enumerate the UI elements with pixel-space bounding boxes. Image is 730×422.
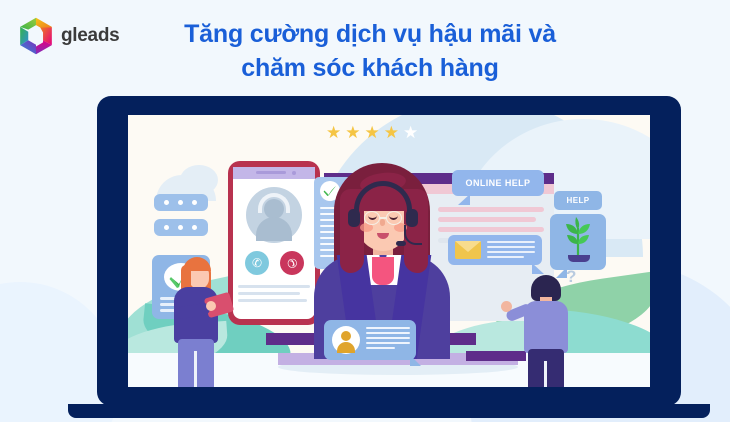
- gleads-hexagon-logo: [18, 17, 54, 55]
- headset-microphone-icon: [396, 241, 406, 246]
- woman-leg-gap: [194, 351, 197, 387]
- phone-speaker: [256, 171, 286, 174]
- woman-hand: [206, 301, 216, 311]
- phone-camera-dot: [292, 171, 296, 175]
- plant-pot: [568, 255, 590, 262]
- star-filled: ★: [345, 124, 360, 141]
- rating-stars: ★ ★ ★ ★ ★: [326, 124, 436, 141]
- laptop-screen: ★ ★ ★ ★ ★ ✆ ✆: [128, 115, 650, 387]
- agent-shirt: [372, 257, 394, 285]
- desk-bar-right: [466, 351, 526, 361]
- help-bubble[interactable]: HELP: [554, 191, 602, 210]
- help-label: HELP: [554, 191, 602, 210]
- decline-call-button[interactable]: ✆: [280, 251, 304, 275]
- star-filled: ★: [326, 124, 341, 141]
- agent-nose: [380, 219, 385, 226]
- man-leg-gap: [544, 361, 547, 387]
- caller-avatar-head: [264, 199, 284, 219]
- question-mark-icon: ?: [566, 267, 576, 287]
- envelope-flap-icon: [455, 241, 481, 252]
- man-hand: [501, 301, 512, 312]
- avatar-body: [337, 342, 355, 353]
- phone-text-lines: [238, 285, 310, 306]
- page-title-line-2: chăm sóc khách hàng: [130, 52, 610, 86]
- brand-logo[interactable]: gleads: [18, 17, 119, 55]
- online-help-bubble[interactable]: ONLINE HELP: [452, 170, 544, 196]
- avatar-head: [341, 331, 351, 341]
- laptop-base: [68, 404, 710, 418]
- typing-indicator-bubble: [154, 219, 208, 236]
- star-filled: ★: [365, 124, 380, 141]
- headset-earcup-left: [348, 209, 360, 227]
- cloud-shape-2: [180, 165, 218, 195]
- page-header: gleads Tăng cường dịch vụ hậu mãi và chă…: [0, 0, 730, 96]
- potted-plant-icon: [550, 214, 606, 260]
- page-title: Tăng cường dịch vụ hậu mãi và chăm sóc k…: [130, 18, 610, 85]
- profile-text-lines: [366, 327, 410, 352]
- online-help-bubble-tail: [458, 194, 470, 205]
- phone-call-icon: ✆: [245, 251, 269, 275]
- brand-wordmark: gleads: [61, 25, 119, 47]
- typing-indicator-bubble: [154, 194, 208, 211]
- profile-id-card-tail: [410, 355, 421, 366]
- email-notification-tail: [532, 263, 544, 274]
- accept-call-button[interactable]: ✆: [245, 251, 269, 275]
- online-help-label: ONLINE HELP: [452, 170, 544, 196]
- page-title-line-1: Tăng cường dịch vụ hậu mãi và: [130, 18, 610, 52]
- star-filled: ★: [384, 124, 399, 141]
- star-empty: ★: [403, 124, 418, 141]
- laptop-illustration: ★ ★ ★ ★ ★ ✆ ✆: [97, 96, 681, 406]
- email-text-lines: [487, 241, 535, 261]
